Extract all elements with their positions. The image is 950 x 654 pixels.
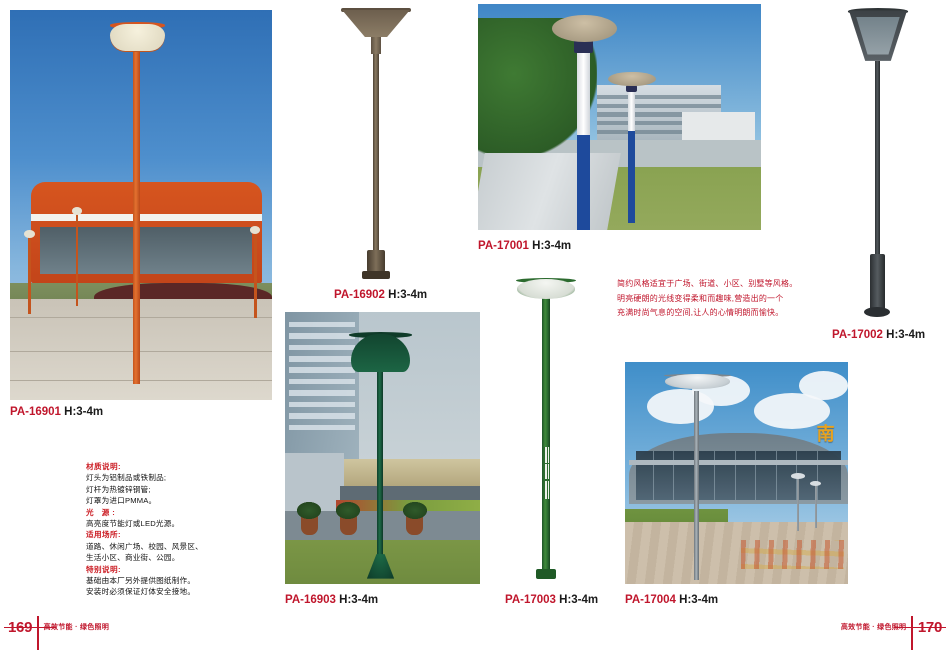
footer-right: 高效节能 · 绿色照明 170 — [841, 610, 950, 644]
product-code: PA-17004 — [625, 594, 676, 606]
footer-rule — [894, 627, 946, 629]
footer-divider — [911, 616, 913, 650]
spec-heading: 适用场所: — [86, 529, 236, 540]
secondary-building — [682, 112, 756, 141]
label-pa-16903: PA-16903 H:3-4m — [285, 594, 378, 606]
label-pa-16901: PA-16901 H:3-4m — [10, 406, 103, 418]
product-dimension: H:3-4m — [64, 406, 103, 418]
spec-line: 高亮度节能灯或LED光源。 — [86, 518, 236, 529]
description-line: 简约风格适宜于广场、街道、小区、别墅等风格。 — [617, 277, 817, 292]
scene-grey-pole-terminal: 南 — [625, 362, 848, 584]
lamp-pole — [377, 372, 384, 573]
background-lamp-cap — [626, 85, 637, 92]
main-lamp-pole — [577, 133, 590, 230]
product-dimension: H:3-4m — [679, 594, 718, 606]
lantern-foot — [864, 307, 890, 317]
main-lamp-midsection — [577, 51, 590, 135]
lamp-base — [367, 250, 385, 272]
building-band — [31, 214, 262, 221]
planter-pot — [340, 516, 358, 535]
label-pa-17003: PA-17003 H:3-4m — [505, 594, 598, 606]
label-pa-17004: PA-17004 H:3-4m — [625, 594, 718, 606]
column-body — [542, 294, 551, 571]
building-signage: 南 — [817, 420, 835, 446]
building-glass — [40, 227, 252, 274]
product-photo-pa-16903 — [285, 312, 480, 584]
spec-line: 灯头为铝制品或铁制品; — [86, 472, 236, 483]
label-pa-16902: PA-16902 H:3-4m — [334, 289, 427, 301]
footer-rule — [4, 627, 56, 629]
main-lamp-pole — [694, 391, 699, 580]
product-code: PA-16903 — [285, 594, 336, 606]
main-lamp-disc — [665, 374, 730, 388]
background-lamp-pole — [815, 484, 817, 528]
roof-line — [629, 460, 848, 466]
scene-dark-lantern — [826, 4, 930, 320]
background-lamp-post-1 — [76, 213, 79, 307]
product-dimension: H:3-4m — [339, 594, 378, 606]
scene-blue-posts — [478, 4, 761, 230]
description-line: 明亮硬朗的光线变得柔和而趣味,营造出的一个 — [617, 292, 817, 307]
spec-line: 生活小区、商业街、公园。 — [86, 552, 236, 563]
product-photo-pa-17001 — [478, 4, 761, 230]
background-lamp-head — [791, 473, 804, 479]
product-code: PA-16902 — [334, 289, 385, 301]
round-building — [31, 182, 262, 283]
main-lamp-post — [133, 37, 140, 384]
background-lamp-head-2 — [24, 230, 34, 238]
background-lamp-pole — [797, 477, 799, 530]
label-pa-17001: PA-17001 H:3-4m — [478, 240, 571, 252]
planter-pot — [406, 516, 424, 535]
product-code: PA-17002 — [832, 329, 883, 341]
scene-bronze-pole — [332, 4, 420, 280]
spec-line: 灯罩为进口PMMA。 — [86, 495, 236, 506]
paving — [625, 522, 848, 584]
background-lamp-post-3 — [254, 232, 257, 318]
footer-divider — [37, 616, 39, 650]
scene-green-pole — [285, 312, 480, 584]
spec-group-material: 材质说明: 灯头为铝制品或铁制品; 灯杆为热镀锌钢管; 灯罩为进口PMMA。 — [86, 461, 236, 507]
product-code: PA-17001 — [478, 240, 529, 252]
lamp-disc — [517, 279, 576, 299]
spec-group-light-source: 光 源: 高亮度节能灯或LED光源。 — [86, 507, 236, 530]
spec-line: 道路、休闲广场、校园、风景区、 — [86, 541, 236, 552]
product-photo-pa-16902 — [332, 4, 420, 280]
lamp-neck — [371, 37, 382, 54]
footer-left: 169 高效节能 · 绿色照明 — [0, 610, 109, 644]
description-line: 充满时尚气息的空间,让人的心情明朗而愉快。 — [617, 306, 817, 321]
product-dimension: H:3-4m — [886, 329, 925, 341]
background-lamp-head-1 — [72, 207, 82, 215]
specification-block: 材质说明: 灯头为铝制品或铁制品; 灯杆为热镀锌钢管; 灯罩为进口PMMA。 光… — [86, 461, 236, 598]
product-dimension: H:3-4m — [388, 289, 427, 301]
product-photo-pa-17003 — [497, 258, 595, 584]
label-pa-17002: PA-17002 H:3-4m — [832, 329, 925, 341]
background-lamp-pole — [628, 128, 635, 223]
product-photo-pa-17004: 南 — [625, 362, 848, 584]
high-rise-building — [285, 312, 359, 475]
paved-path — [478, 153, 621, 230]
walkway — [10, 299, 272, 400]
catalog-page: PA-16901 H:3-4m 材质说明: 灯头为铝制品或铁制品; 灯杆为热镀锌… — [0, 0, 950, 654]
scene-orange-lamp — [10, 10, 272, 400]
description-paragraph: 简约风格适宜于广场、街道、小区、别墅等风格。 明亮硬朗的光线变得柔和而趣味,营造… — [617, 277, 817, 321]
main-lamp-cap — [574, 40, 593, 52]
lamp-pole — [373, 54, 379, 258]
spec-group-note: 特别说明: 基础由本厂另外提供图纸制作。 安装时必须保证灯体安全接地。 — [86, 564, 236, 598]
spec-heading: 光 源: — [86, 507, 236, 518]
product-dimension: H:3-4m — [532, 240, 571, 252]
spec-group-application: 适用场所: 道路、休闲广场、校园、风景区、 生活小区、商业街、公园。 — [86, 529, 236, 563]
lantern-base — [870, 254, 886, 311]
spec-heading: 材质说明: — [86, 461, 236, 472]
background-lamp-post-2 — [28, 236, 31, 314]
product-dimension: H:3-4m — [559, 594, 598, 606]
product-code: PA-17003 — [505, 594, 556, 606]
lamp-foot — [362, 271, 390, 278]
product-photo-pa-16901 — [10, 10, 272, 400]
page-footer: 169 高效节能 · 绿色照明 高效节能 · 绿色照明 170 — [0, 614, 950, 654]
spec-line: 基础由本厂另外提供图纸制作。 — [86, 575, 236, 586]
light-window-panel — [543, 447, 550, 499]
spec-line: 安装时必须保证灯体安全接地。 — [86, 586, 236, 597]
lamp-head-globe — [110, 24, 165, 51]
planter-pot — [301, 516, 319, 535]
paving-pattern — [741, 540, 844, 569]
background-lamp-midsection — [628, 92, 635, 130]
cloud — [799, 371, 848, 400]
spec-line: 灯杆为热镀锌钢管; — [86, 484, 236, 495]
background-lamp-head — [810, 481, 821, 486]
product-code: PA-16901 — [10, 406, 61, 418]
column-base — [536, 569, 556, 579]
pergola — [344, 459, 481, 486]
scene-green-column — [497, 258, 595, 584]
product-photo-pa-17002 — [826, 4, 930, 320]
spec-heading: 特别说明: — [86, 564, 236, 575]
glass-facade — [636, 451, 841, 500]
lamp-shade — [342, 10, 411, 38]
